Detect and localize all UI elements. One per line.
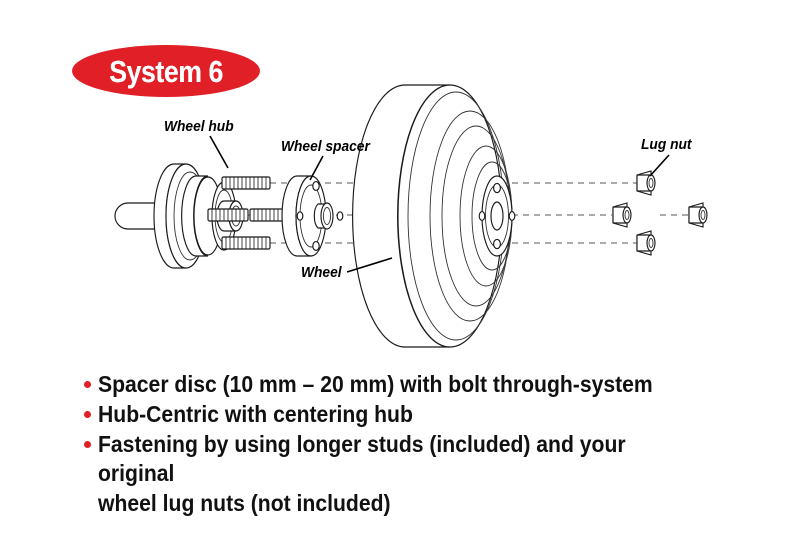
- spacer-hole-bottom: [313, 242, 319, 251]
- label-lug-nut: Lug nut: [641, 138, 691, 153]
- wheel-assembly: [353, 85, 515, 347]
- feature-list: Spacer disc (10 mm – 20 mm) with bolt th…: [84, 370, 764, 519]
- list-item-text: Spacer disc (10 mm – 20 mm) with bolt th…: [98, 370, 653, 399]
- bullet-dot-icon: [84, 441, 91, 448]
- list-item-text: Fastening by using longer studs (include…: [98, 430, 697, 517]
- spacer-hole-left: [297, 212, 303, 220]
- lug-nuts: [613, 171, 707, 255]
- lug-nut-bottom: [637, 231, 655, 255]
- leader-lug-nut: [650, 155, 669, 176]
- diagram-page: System 6: [0, 0, 800, 533]
- list-item-text: Hub-Centric with centering hub: [98, 400, 413, 429]
- bullet-dot-icon: [84, 381, 91, 388]
- stud-bottom: [222, 237, 270, 249]
- wheel-hole-left: [479, 212, 485, 221]
- leader-wheel-spacer: [310, 156, 323, 180]
- spacer-hole-top: [313, 182, 319, 191]
- stud-top: [222, 177, 270, 189]
- lug-nut-middle-left: [613, 203, 631, 227]
- list-item: Hub-Centric with centering hub: [84, 400, 764, 429]
- wheel-hole-top: [494, 183, 501, 192]
- lug-nut-middle-right: [689, 203, 707, 227]
- wheel-hole-right: [509, 212, 515, 221]
- spacer-hole-right: [337, 212, 343, 220]
- label-wheel-hub: Wheel hub: [164, 120, 234, 135]
- list-item: Spacer disc (10 mm – 20 mm) with bolt th…: [84, 370, 764, 399]
- label-wheel-spacer: Wheel spacer: [281, 140, 370, 155]
- stud-middle: [208, 209, 284, 221]
- wheel-spacer: [282, 176, 343, 256]
- bullet-dot-icon: [84, 411, 91, 418]
- label-wheel: Wheel: [301, 266, 342, 281]
- leader-wheel-hub: [210, 136, 228, 168]
- wheel-hole-bottom: [494, 239, 501, 248]
- list-item: Fastening by using longer studs (include…: [84, 430, 764, 517]
